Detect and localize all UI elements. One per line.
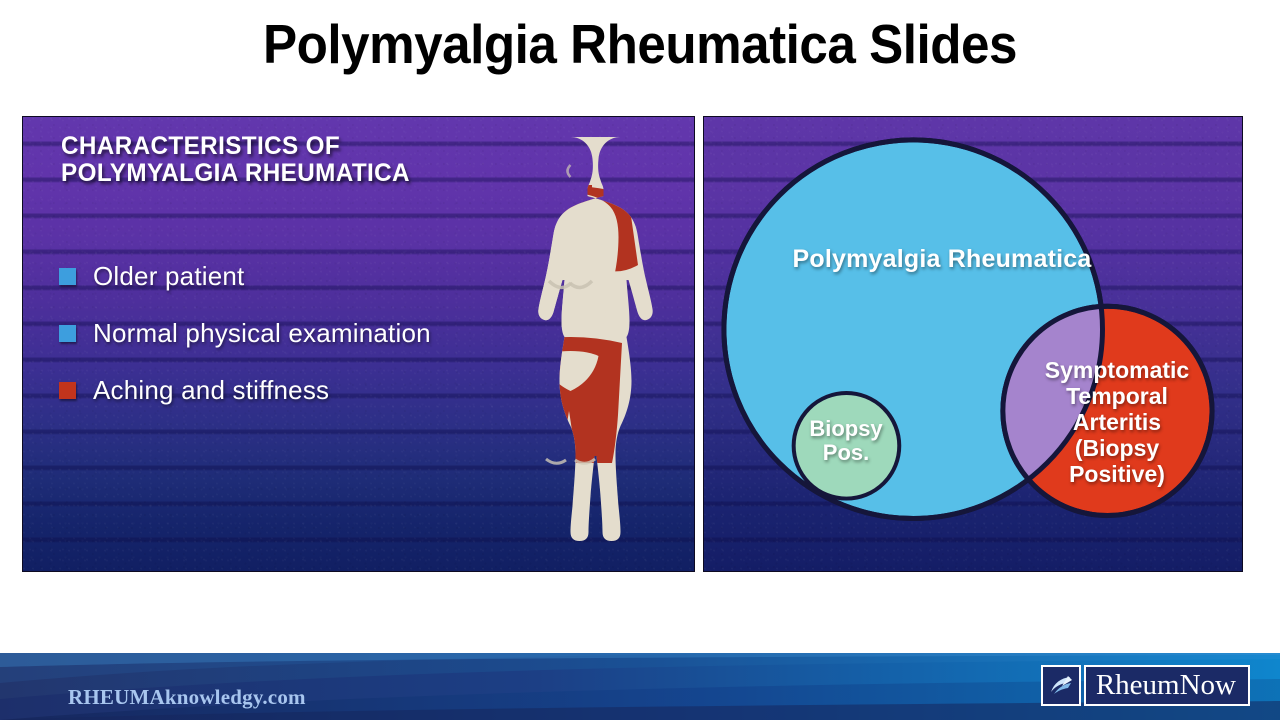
list-item: Normal physical examination: [59, 318, 439, 349]
venn-diagram: [704, 117, 1242, 571]
bullet-label: Older patient: [93, 261, 244, 292]
page-title: Polymyalgia Rheumatica Slides: [45, 8, 1235, 80]
biopsy-positive-circle: [794, 393, 900, 499]
bullet-label: Normal physical examination: [93, 318, 431, 349]
right-slide-image: Polymyalgia Rheumatica Biopsy Pos. Sympt…: [703, 116, 1243, 572]
swoosh-icon: [1041, 665, 1081, 706]
bullet-square-icon: [59, 325, 76, 342]
characteristics-heading: CHARACTERISTICS OF POLYMYALGIA RHEUMATIC…: [61, 133, 410, 187]
bullet-label: Aching and stiffness: [93, 375, 329, 406]
characteristics-heading-line2: POLYMYALGIA RHEUMATICA: [61, 160, 410, 187]
female-body-diagram: [453, 129, 688, 569]
footer-bar: RHEUMAknowledgy.com RheumNow: [0, 653, 1280, 720]
list-item: Aching and stiffness: [59, 375, 439, 406]
footer-site-label: RHEUMAknowledgy.com: [68, 685, 306, 710]
characteristics-bullet-list: Older patient Normal physical examinatio…: [59, 261, 439, 432]
characteristics-heading-line1: CHARACTERISTICS OF: [61, 133, 410, 160]
bullet-square-icon: [59, 268, 76, 285]
bullet-square-icon: [59, 382, 76, 399]
rheumnow-wordmark: RheumNow: [1084, 665, 1250, 706]
left-slide-image: CHARACTERISTICS OF POLYMYALGIA RHEUMATIC…: [22, 116, 695, 572]
list-item: Older patient: [59, 261, 439, 292]
rheumnow-logo[interactable]: RheumNow: [1041, 665, 1250, 706]
